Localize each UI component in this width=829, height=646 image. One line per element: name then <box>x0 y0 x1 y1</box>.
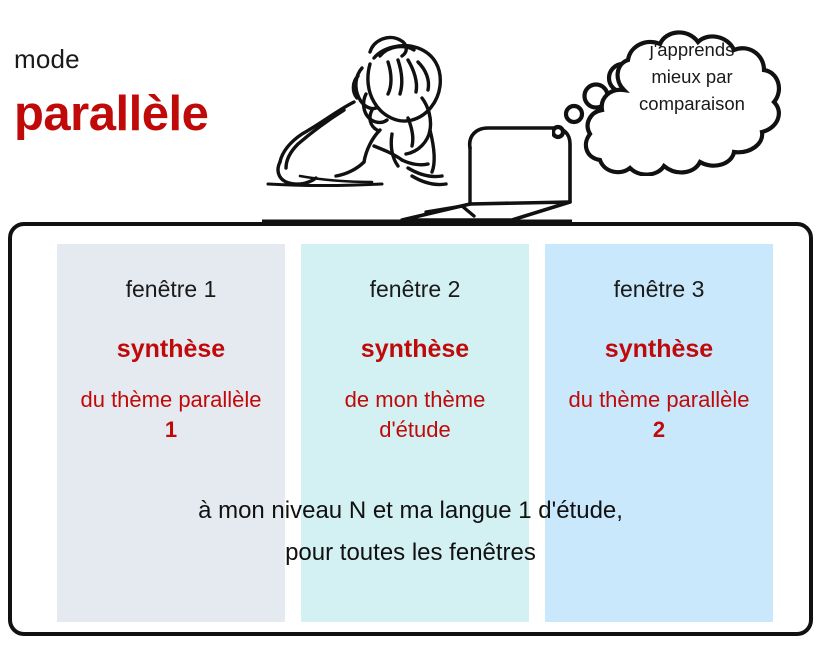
panel-description-text: de mon thème <box>345 387 486 412</box>
windows-container: fenêtre 1 synthèse du thème parallèle 1 … <box>8 222 813 636</box>
thought-line-3: comparaison <box>639 93 745 114</box>
thought-bubble-text: j'apprends mieux par comparaison <box>612 37 772 117</box>
panel-synthesis-label: synthèse <box>301 335 529 364</box>
header-area: mode parallèle <box>0 0 829 222</box>
thought-line-2: mieux par <box>651 66 732 87</box>
panel-synthesis-label: synthèse <box>57 335 285 364</box>
mode-label: mode <box>14 44 80 75</box>
page-title: parallèle <box>14 86 208 142</box>
thought-line-1: j'apprends <box>650 39 735 60</box>
panel-title: fenêtre 1 <box>57 276 285 303</box>
panel-number: 2 <box>653 417 665 442</box>
panel-fenetre-2[interactable]: fenêtre 2 synthèse de mon thème d'étude <box>301 244 529 622</box>
panel-description-text: du thème parallèle <box>568 387 749 412</box>
panel-fenetre-1[interactable]: fenêtre 1 synthèse du thème parallèle 1 <box>57 244 285 622</box>
panel-description: de mon thème d'étude <box>297 385 533 446</box>
panel-number: 1 <box>165 417 177 442</box>
panel-synthesis-label: synthèse <box>545 335 773 364</box>
panel-title: fenêtre 2 <box>301 276 529 303</box>
panel-fenetre-3[interactable]: fenêtre 3 synthèse du thème parallèle 2 <box>545 244 773 622</box>
person-at-laptop-thinking-icon <box>262 6 572 226</box>
panel-number: d'étude <box>379 417 451 442</box>
panels-row: fenêtre 1 synthèse du thème parallèle 1 … <box>57 244 773 622</box>
panel-description: du thème parallèle 1 <box>53 385 289 446</box>
panel-description-text: du thème parallèle <box>80 387 261 412</box>
panel-title: fenêtre 3 <box>545 276 773 303</box>
panel-description: du thème parallèle 2 <box>541 385 777 446</box>
